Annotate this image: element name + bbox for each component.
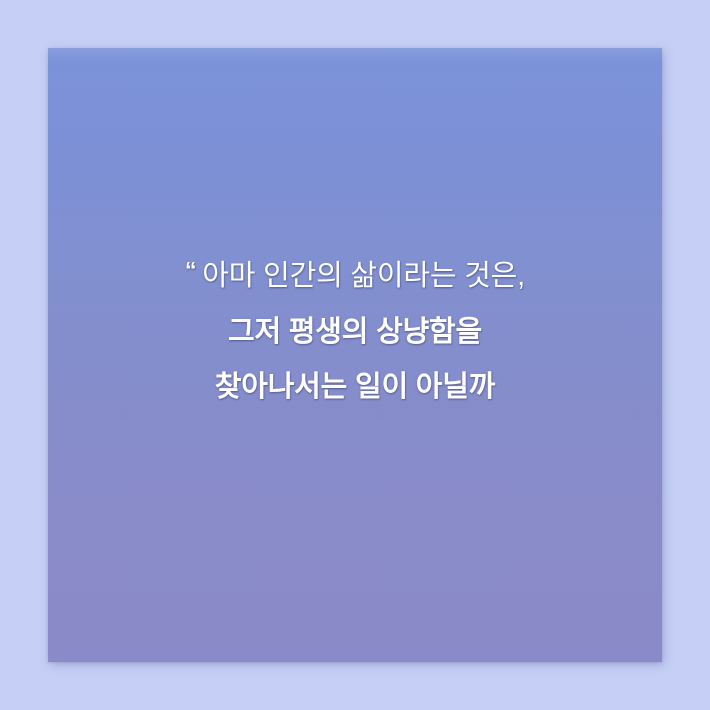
quote-text-block: “아마 인간의 삶이라는 것은, 그저 평생의 상냥함을 찾아나서는 일이 아닐…	[48, 254, 662, 409]
quote-line-1: “아마 인간의 삶이라는 것은,	[72, 254, 638, 298]
quote-line-3: 찾아나서는 일이 아닐까	[72, 366, 638, 409]
card-top-sheen	[48, 48, 662, 62]
page-canvas: “아마 인간의 삶이라는 것은, 그저 평생의 상냥함을 찾아나서는 일이 아닐…	[0, 0, 710, 710]
quote-line-2: 그저 평생의 상냥함을	[72, 311, 638, 354]
quote-line-1-text: 아마 인간의 삶이라는 것은,	[202, 260, 525, 292]
quote-card: “아마 인간의 삶이라는 것은, 그저 평생의 상냥함을 찾아나서는 일이 아닐…	[48, 48, 662, 662]
open-quotation-mark-icon: “	[185, 254, 196, 288]
